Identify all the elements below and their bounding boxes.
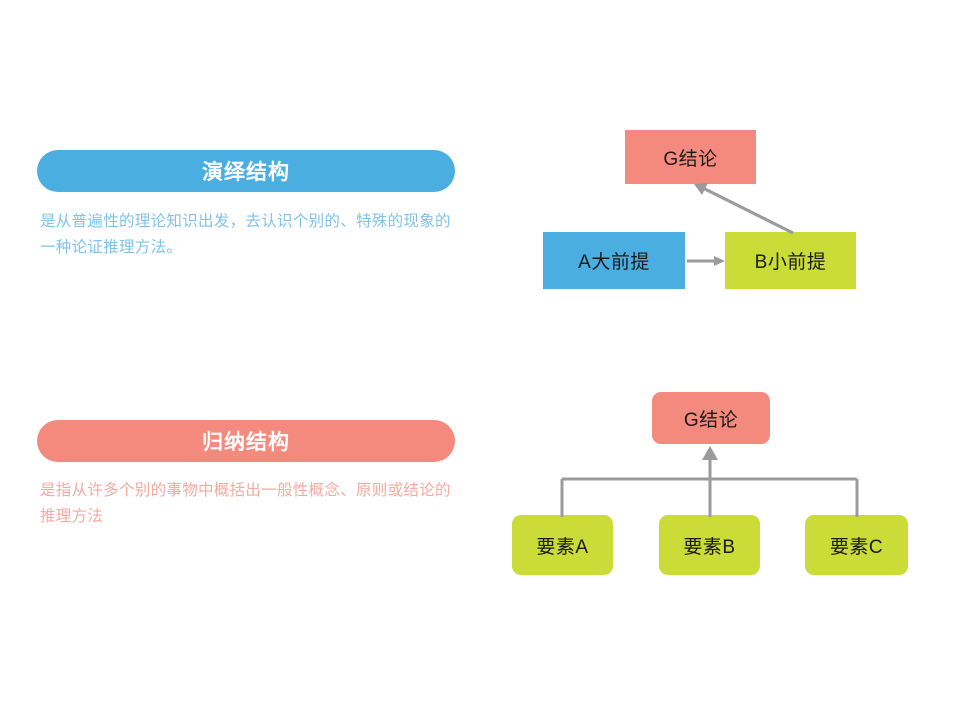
node-inductive-element-c[interactable]: 要素C xyxy=(805,515,908,575)
node-label: 要素C xyxy=(830,532,883,559)
node-deductive-major-premise[interactable]: A大前提 xyxy=(543,232,685,289)
node-label: G结论 xyxy=(684,405,738,432)
slide-canvas: 演绎结构 是从普遍性的理论知识出发，去认识个别的、特殊的现象的一种论证推理方法。… xyxy=(0,0,960,720)
diagram-connectors xyxy=(0,0,960,720)
section-header-inductive: 归纳结构 xyxy=(37,420,455,462)
section-body-inductive: 是指从许多个别的事物中概括出一般性概念、原则或结论的推理方法 xyxy=(40,478,460,530)
node-inductive-element-b[interactable]: 要素B xyxy=(659,515,760,575)
connector-elements-bus xyxy=(562,479,857,517)
node-deductive-minor-premise[interactable]: B小前提 xyxy=(725,232,856,289)
arrow-major-to-minor xyxy=(687,256,725,266)
node-label: B小前提 xyxy=(755,247,827,274)
section-header-label: 演绎结构 xyxy=(202,156,290,186)
node-inductive-conclusion[interactable]: G结论 xyxy=(652,392,770,444)
arrow-minor-to-conclusion xyxy=(694,183,793,233)
node-deductive-conclusion[interactable]: G结论 xyxy=(625,130,756,184)
section-header-deductive: 演绎结构 xyxy=(37,150,455,192)
node-inductive-element-a[interactable]: 要素A xyxy=(512,515,613,575)
section-body-deductive: 是从普遍性的理论知识出发，去认识个别的、特殊的现象的一种论证推理方法。 xyxy=(40,209,460,261)
node-label: 要素A xyxy=(536,532,588,559)
section-header-label: 归纳结构 xyxy=(202,426,290,456)
node-label: A大前提 xyxy=(578,247,650,274)
node-label: 要素B xyxy=(683,532,735,559)
node-label: G结论 xyxy=(663,144,717,171)
arrow-elements-to-conclusion xyxy=(702,446,718,479)
